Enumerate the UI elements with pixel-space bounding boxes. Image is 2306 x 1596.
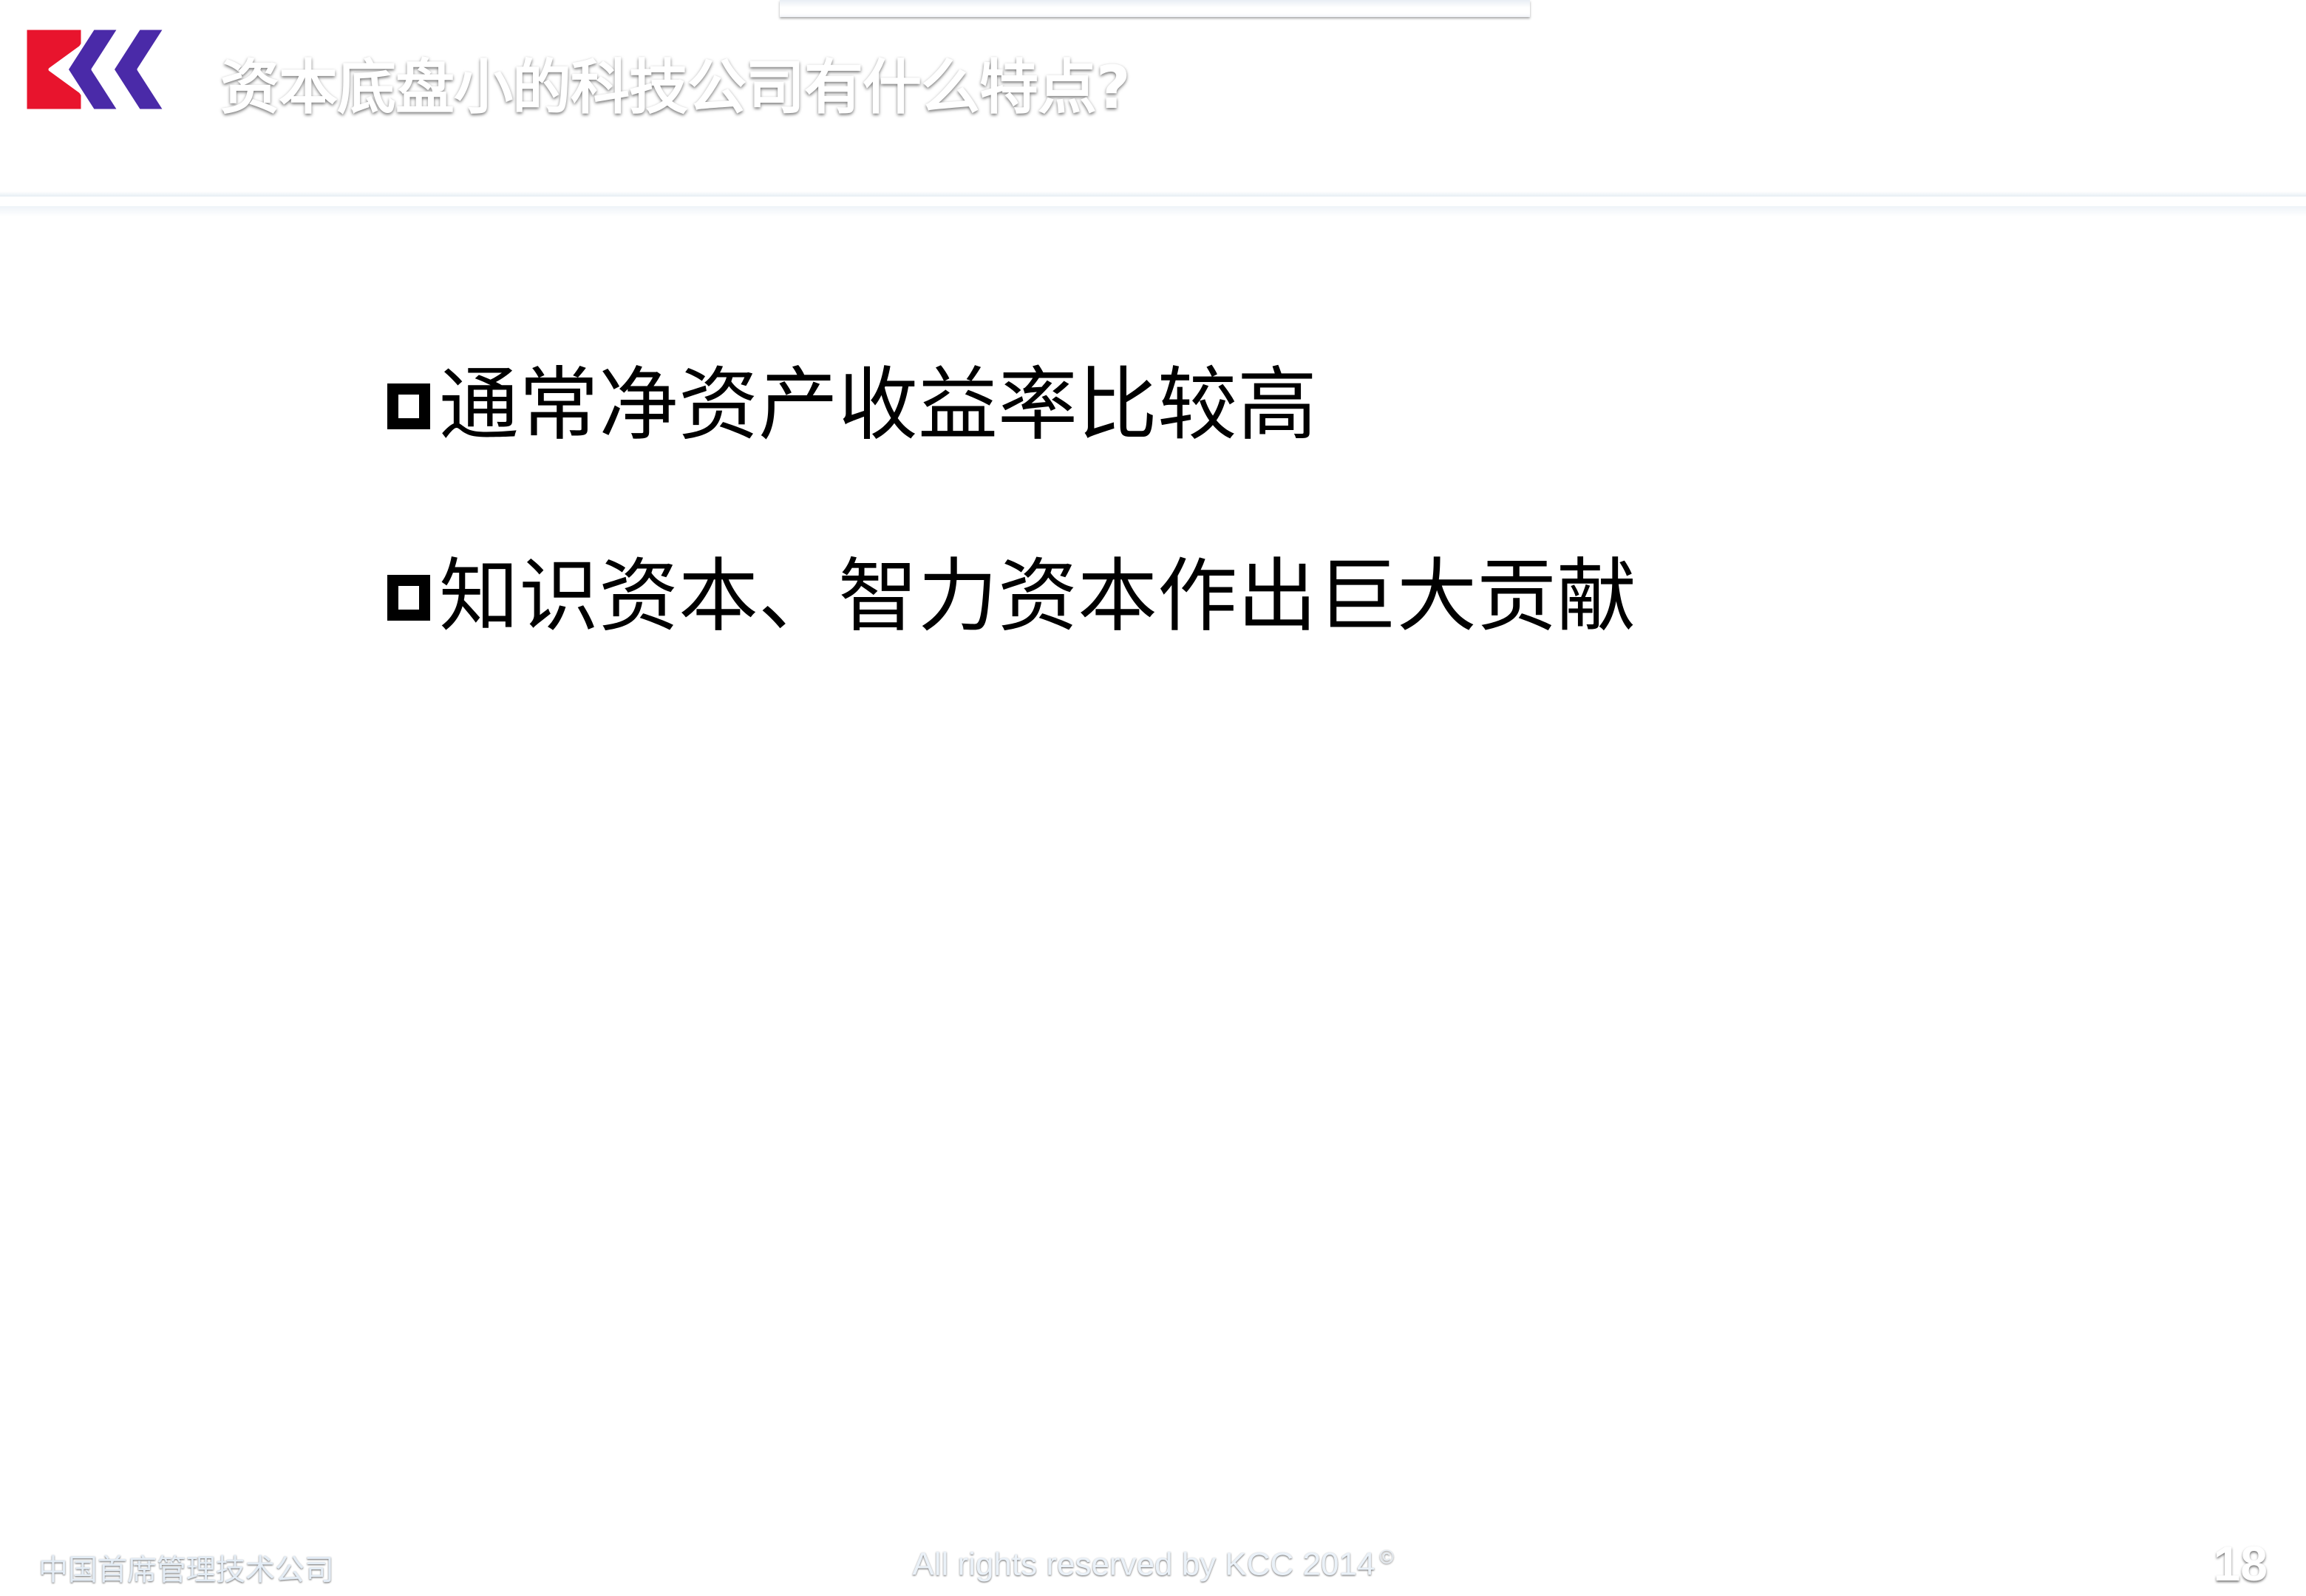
copyright-symbol-icon: ©	[1379, 1546, 1393, 1568]
bullet-item-label: 知识资本、智力资本作出巨大贡献	[439, 553, 1636, 642]
divider-line-white-bottom	[0, 206, 2306, 216]
slide-title: 资本底盘小的科技公司有什么特点?	[220, 38, 1129, 127]
kcc-logo-svg	[21, 24, 177, 115]
slide-page-number: 18	[2214, 1535, 2268, 1592]
hollow-square-bullet-icon	[387, 575, 430, 621]
top-accent-tab	[780, 0, 1530, 17]
kcc-logo	[21, 24, 177, 115]
hollow-square-bullet-icon	[387, 383, 430, 429]
footer-copyright-text: All rights reserved by KCC 2014	[912, 1546, 1375, 1583]
slide-footer: 中国首席管理技术公司 All rights reserved by KCC 20…	[0, 1509, 2306, 1596]
bullet-item: 知识资本、智力资本作出巨大贡献	[387, 553, 2161, 642]
slide-body: 通常净资产收益率比较高 知识资本、智力资本作出巨大贡献	[0, 216, 2306, 1509]
header-divider	[0, 191, 2306, 216]
bullet-item-label: 通常净资产收益率比较高	[439, 361, 1317, 451]
footer-copyright: All rights reserved by KCC 2014©	[0, 1546, 2306, 1583]
divider-line-white-top	[0, 191, 2306, 197]
logo-chevron-2	[112, 28, 166, 111]
bullet-item: 通常净资产收益率比较高	[387, 361, 2161, 451]
bullet-list: 通常净资产收益率比较高 知识资本、智力资本作出巨大贡献	[387, 361, 2161, 642]
divider-line-dark	[0, 197, 2306, 206]
presentation-slide: 资本底盘小的科技公司有什么特点? 通常净资产收益率比较高 知识资本、智力资本作出…	[0, 0, 2306, 1596]
